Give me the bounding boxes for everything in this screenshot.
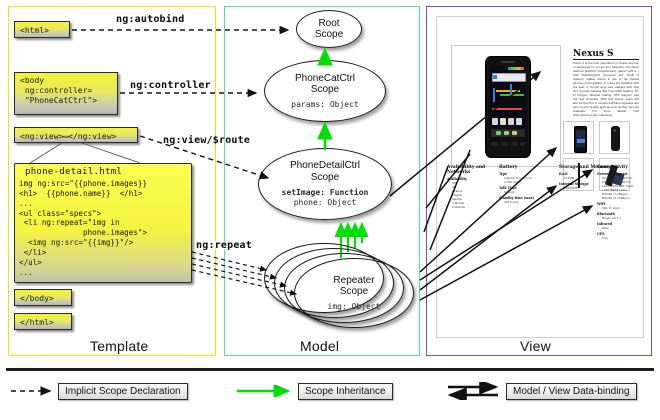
scope-phonedetail-line1: PhoneDetailCtrl	[290, 160, 360, 172]
spec-values-1-0: Lithium Ion (Li-Ion)(1500 mAh)	[504, 176, 551, 184]
spec-values-3-1: 802.11 b/g/n	[602, 206, 644, 210]
thumbnail-0[interactable]	[563, 121, 594, 154]
scope-phonecat-line2: Scope	[311, 84, 339, 96]
spec-values-3-4: true	[602, 236, 644, 240]
legend-label-databinding: Model / View Data-binding	[506, 383, 637, 400]
spec-values-0-0: M1SKOrangeSingtelTelstraT-MobileVodafone	[452, 181, 491, 209]
column-label-template: Template	[90, 338, 148, 354]
legend-glyph-double-arrow	[446, 382, 506, 400]
arrow-label-autobind: ng:autobind	[116, 14, 184, 25]
column-label-view: View	[520, 338, 551, 354]
scope-repeater-line2: Scope	[340, 286, 368, 298]
arrow-label-view-route: ng:view/$route	[163, 135, 250, 146]
column-label-model: Model	[300, 338, 339, 354]
scope-phonedetail-line2: Scope	[311, 172, 339, 184]
scope-repeater-prop-img: img: Object	[328, 302, 381, 312]
phone-hero-image	[485, 56, 531, 158]
arrow-label-repeat: ng:repeat	[196, 240, 252, 251]
thumbnail-1[interactable]	[599, 121, 630, 154]
scope-repeater: Repeater Scope img: Object	[294, 258, 414, 328]
callout-code: img ng:src="{{phone.images}} <h1> {{phon…	[15, 179, 191, 278]
code-box-ng-view: <ng:view>▭</ng:view>	[14, 127, 138, 143]
scope-root-line2: Scope	[315, 29, 343, 41]
spec-values-1-1: 6 hours	[504, 190, 551, 194]
product-title: Nexus S	[573, 49, 614, 59]
spec-heading-0: Availability and Networks	[447, 165, 491, 175]
spec-values-1-2: 428 hours	[504, 200, 551, 204]
scope-root: Root Scope	[296, 10, 362, 48]
spec-values-3-0: Quad-band GSM 850,900, 1800, 1900 Tri-ba…	[602, 176, 644, 200]
callout-filename: phone-detail.html	[15, 164, 191, 179]
code-box-body-close: </body>	[14, 289, 72, 306]
spec-heading-3: Connectivity	[597, 165, 644, 170]
scope-phonedetail-prop-phone: phone: Object	[294, 198, 357, 208]
legend-label-inheritance: Scope Inheritance	[298, 383, 393, 400]
code-box-html-close: </html>	[14, 313, 72, 330]
spec-column-1: Battery Type Lithium Ion (Li-Ion)(1500 m…	[499, 165, 551, 204]
legend: Implicit Scope Declaration Scope Inherit…	[0, 368, 660, 420]
scope-phonecat-prop-params: params: Object	[291, 100, 358, 110]
diagram-canvas: Template Model View <html> <body ng:cont…	[0, 0, 660, 420]
legend-glyph-dashed-arrow	[10, 385, 58, 397]
spec-values-3-2: Bluetooth 2.1	[602, 216, 644, 220]
rendered-view-page: Nexus S Nexus S is the next generation o…	[436, 16, 644, 338]
spec-heading-1: Battery	[499, 165, 551, 170]
scope-phonecatctrl: PhoneCatCtrl Scope params: Object	[264, 60, 386, 122]
hero-image-frame	[451, 45, 561, 167]
legend-item-inheritance: Scope Inheritance	[236, 382, 393, 400]
product-description: Nexus S is the next generation of Nexus …	[573, 62, 639, 118]
arrow-label-controller: ng:controller	[130, 80, 211, 91]
legend-item-implicit: Implicit Scope Declaration	[10, 382, 188, 400]
code-box-body-open: <body ng:controller= "PhoneCatCtrl">	[14, 72, 118, 115]
scope-phonecat-line1: PhoneCatCtrl	[295, 73, 355, 85]
callout-phone-detail-html: phone-detail.html img ng:src="{{phone.im…	[14, 163, 192, 283]
title-underline	[573, 59, 639, 60]
spec-values-3-3: false	[602, 226, 644, 230]
spec-column-0: Availability and Networks Availability M…	[447, 165, 491, 209]
spec-column-3: Connectivity Network Support Quad-band G…	[597, 165, 644, 240]
legend-item-databinding: Model / View Data-binding	[446, 382, 637, 400]
legend-rule	[6, 368, 654, 371]
code-box-html-open: <html>	[14, 21, 70, 38]
scope-phonedetailctrl: PhoneDetailCtrl Scope setImage: Function…	[258, 148, 392, 220]
scope-phonedetail-prop-setimage: setImage: Function	[282, 188, 369, 198]
scope-root-line1: Root	[318, 18, 339, 30]
legend-label-implicit: Implicit Scope Declaration	[58, 383, 188, 400]
scope-repeater-line1: Repeater	[333, 275, 374, 287]
legend-glyph-green-arrow	[236, 385, 298, 397]
